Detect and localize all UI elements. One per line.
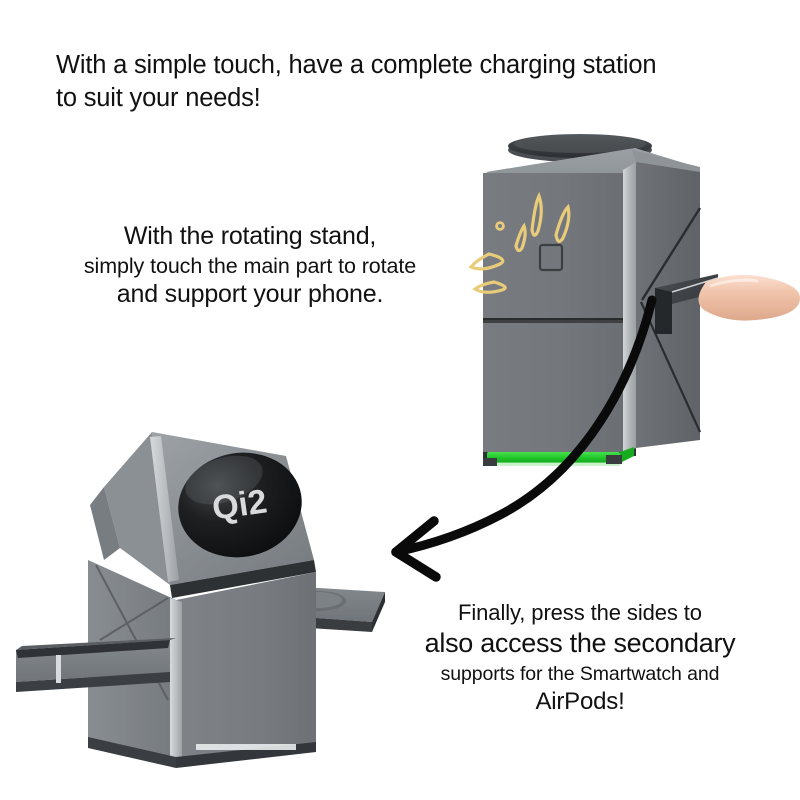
infographic-canvas: With a simple touch, have a complete cha… (0, 0, 800, 800)
tray-edge-highlight (56, 655, 61, 683)
stand-rotating-head[interactable] (90, 432, 316, 598)
qi2-logo: Qi2 (210, 482, 270, 527)
qi2-logo-text: Qi2 (210, 482, 270, 527)
stand-corner-highlight (170, 598, 182, 760)
rotating-stand-illustration: Qi2 (0, 0, 800, 800)
stand-base-light (196, 744, 296, 750)
